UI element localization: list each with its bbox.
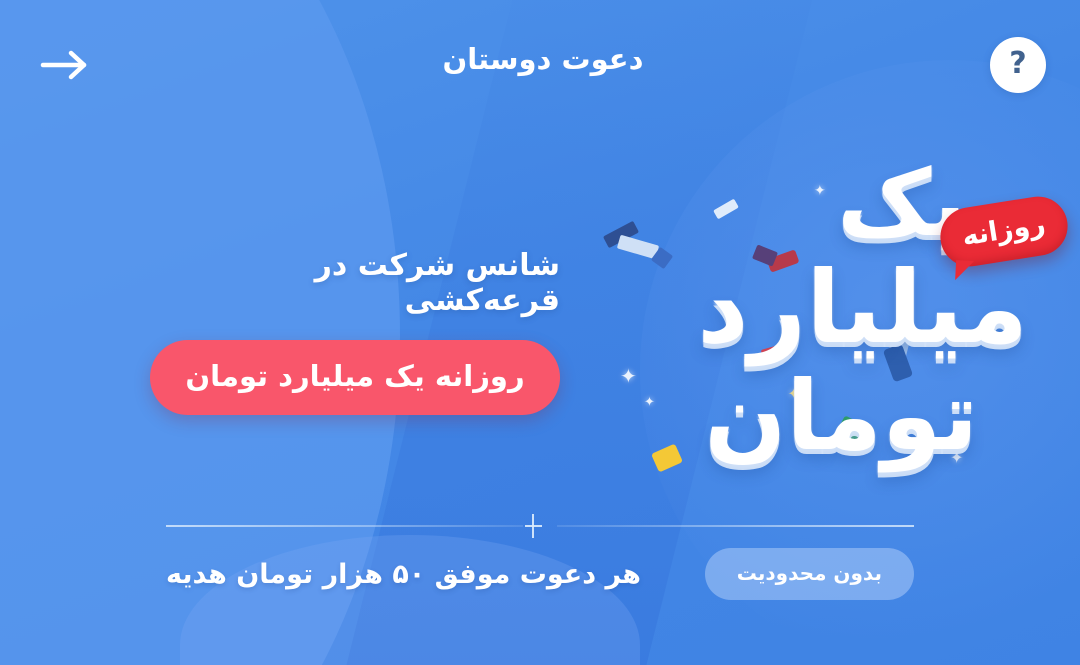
divider-rule-right	[166, 525, 523, 527]
sparkle-icon: ✦	[814, 184, 826, 198]
hero-illustration: ✦ ✦ ✦ ✦ ✦ یک میلیارد تومان روزانه	[592, 150, 1062, 490]
divider-rule-left	[557, 525, 914, 527]
header-bar: ? دعوت دوستان	[0, 0, 1080, 130]
help-button[interactable]: ?	[990, 37, 1046, 93]
daily-prize-pill[interactable]: روزانه یک میلیارد تومان	[150, 340, 560, 415]
hero-art-line-two: میلیارد	[697, 258, 1028, 358]
promo-copy-block: شانس شرکت در قرعه‌کشی روزانه یک میلیارد …	[150, 248, 560, 415]
page-title: دعوت دوستان	[116, 42, 970, 76]
reward-row: هر دعوت موفق ۵۰ هزار تومان هدیه بدون محد…	[166, 548, 914, 600]
hero-art-line-three: تومان	[704, 368, 978, 464]
plus-icon	[523, 514, 557, 538]
sparkle-icon: ✦	[644, 396, 655, 409]
promo-tagline: شانس شرکت در قرعه‌کشی	[150, 248, 560, 318]
section-divider	[166, 516, 914, 536]
question-mark-icon: ?	[1009, 49, 1026, 79]
confetti-piece	[713, 199, 739, 220]
sparkle-icon: ✦	[620, 366, 637, 386]
invite-friends-screen: ? دعوت دوستان ✦ ✦ ✦ ✦ ✦ یک میلیارد تومان	[0, 0, 1080, 665]
back-button[interactable]	[34, 37, 96, 93]
arrow-right-icon	[37, 47, 93, 83]
no-limit-badge[interactable]: بدون محدودیت	[705, 548, 914, 600]
reward-text: هر دعوت موفق ۵۰ هزار تومان هدیه	[166, 559, 641, 590]
confetti-piece	[651, 444, 683, 473]
